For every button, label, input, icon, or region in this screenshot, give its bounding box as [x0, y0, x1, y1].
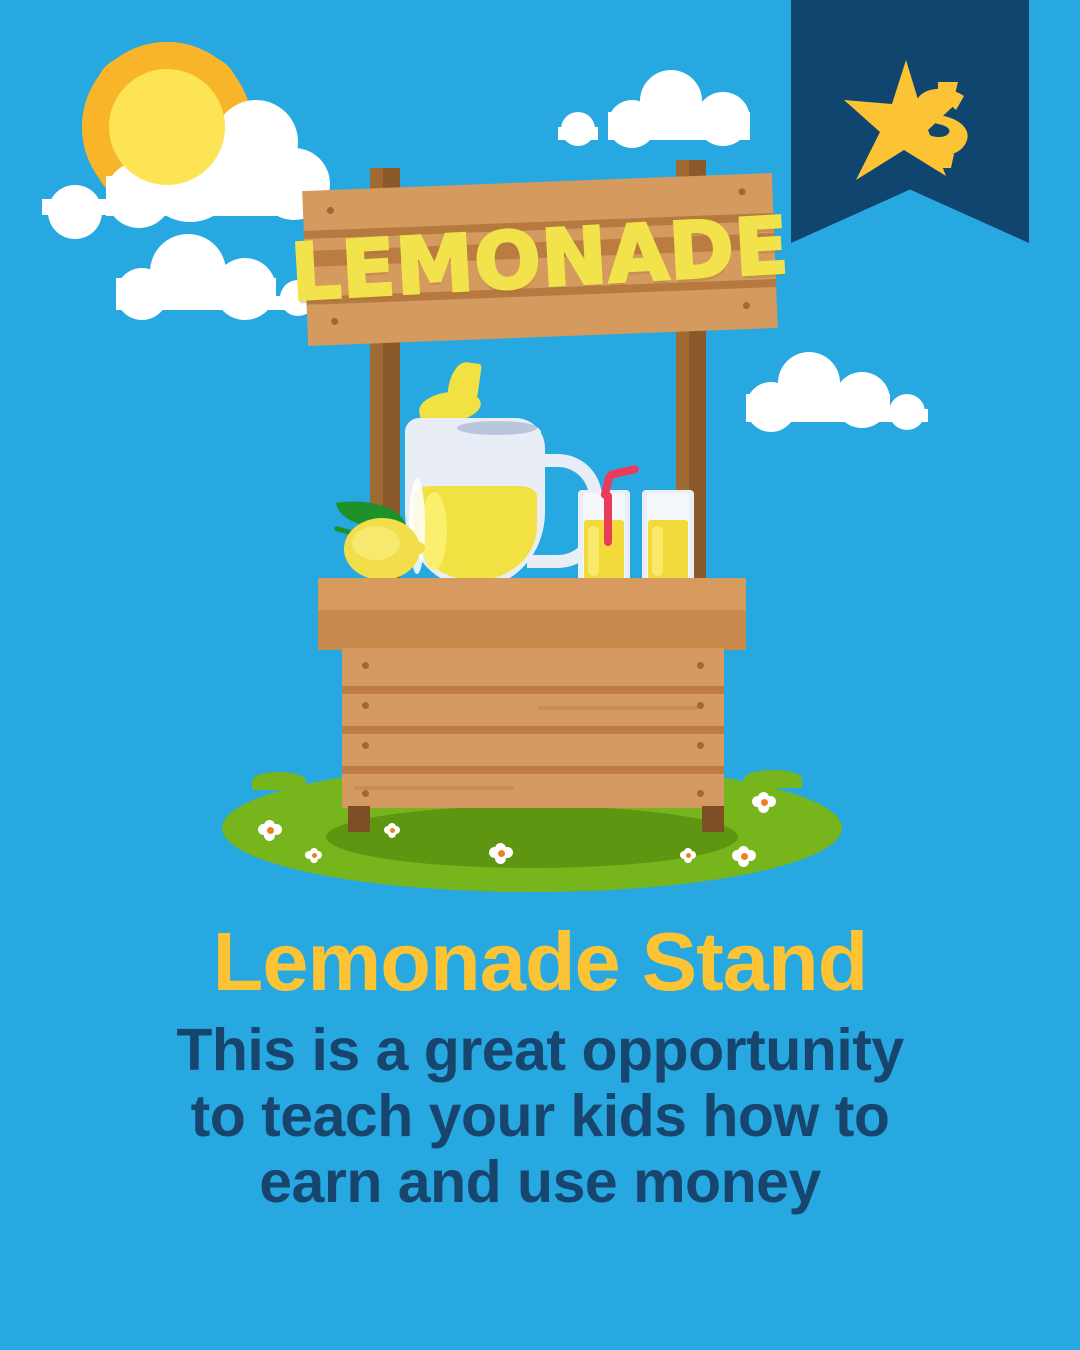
subtitle-line: This is a great opportunity: [56, 1017, 1024, 1083]
sign-label: LEMONADE: [301, 169, 779, 350]
stand-leg-right: [702, 806, 724, 832]
page-subtitle: This is a great opportunity to teach you…: [0, 1017, 1080, 1215]
straw-icon: [604, 492, 612, 546]
stand-counter-face: [318, 610, 746, 650]
lemonade-pitcher: [405, 418, 580, 588]
copy-block: Lemonade Stand This is a great opportuni…: [0, 920, 1080, 1215]
splash-droplet-icon: [444, 360, 482, 422]
poster-canvas: LEMONADE: [0, 0, 1080, 1350]
stand-body: [342, 648, 724, 808]
subtitle-line: to teach your kids how to: [56, 1083, 1024, 1149]
star-dollar-logo-icon[interactable]: [842, 58, 988, 188]
straw-icon: [607, 465, 640, 480]
lemon-icon: [344, 518, 420, 580]
stand-counter-top: [318, 578, 746, 612]
stand-leg-left: [348, 806, 370, 832]
page-title: Lemonade Stand: [0, 920, 1080, 1003]
subtitle-line: earn and use money: [56, 1149, 1024, 1215]
lemonade-sign: LEMONADE: [302, 173, 778, 346]
glass: [642, 490, 694, 586]
